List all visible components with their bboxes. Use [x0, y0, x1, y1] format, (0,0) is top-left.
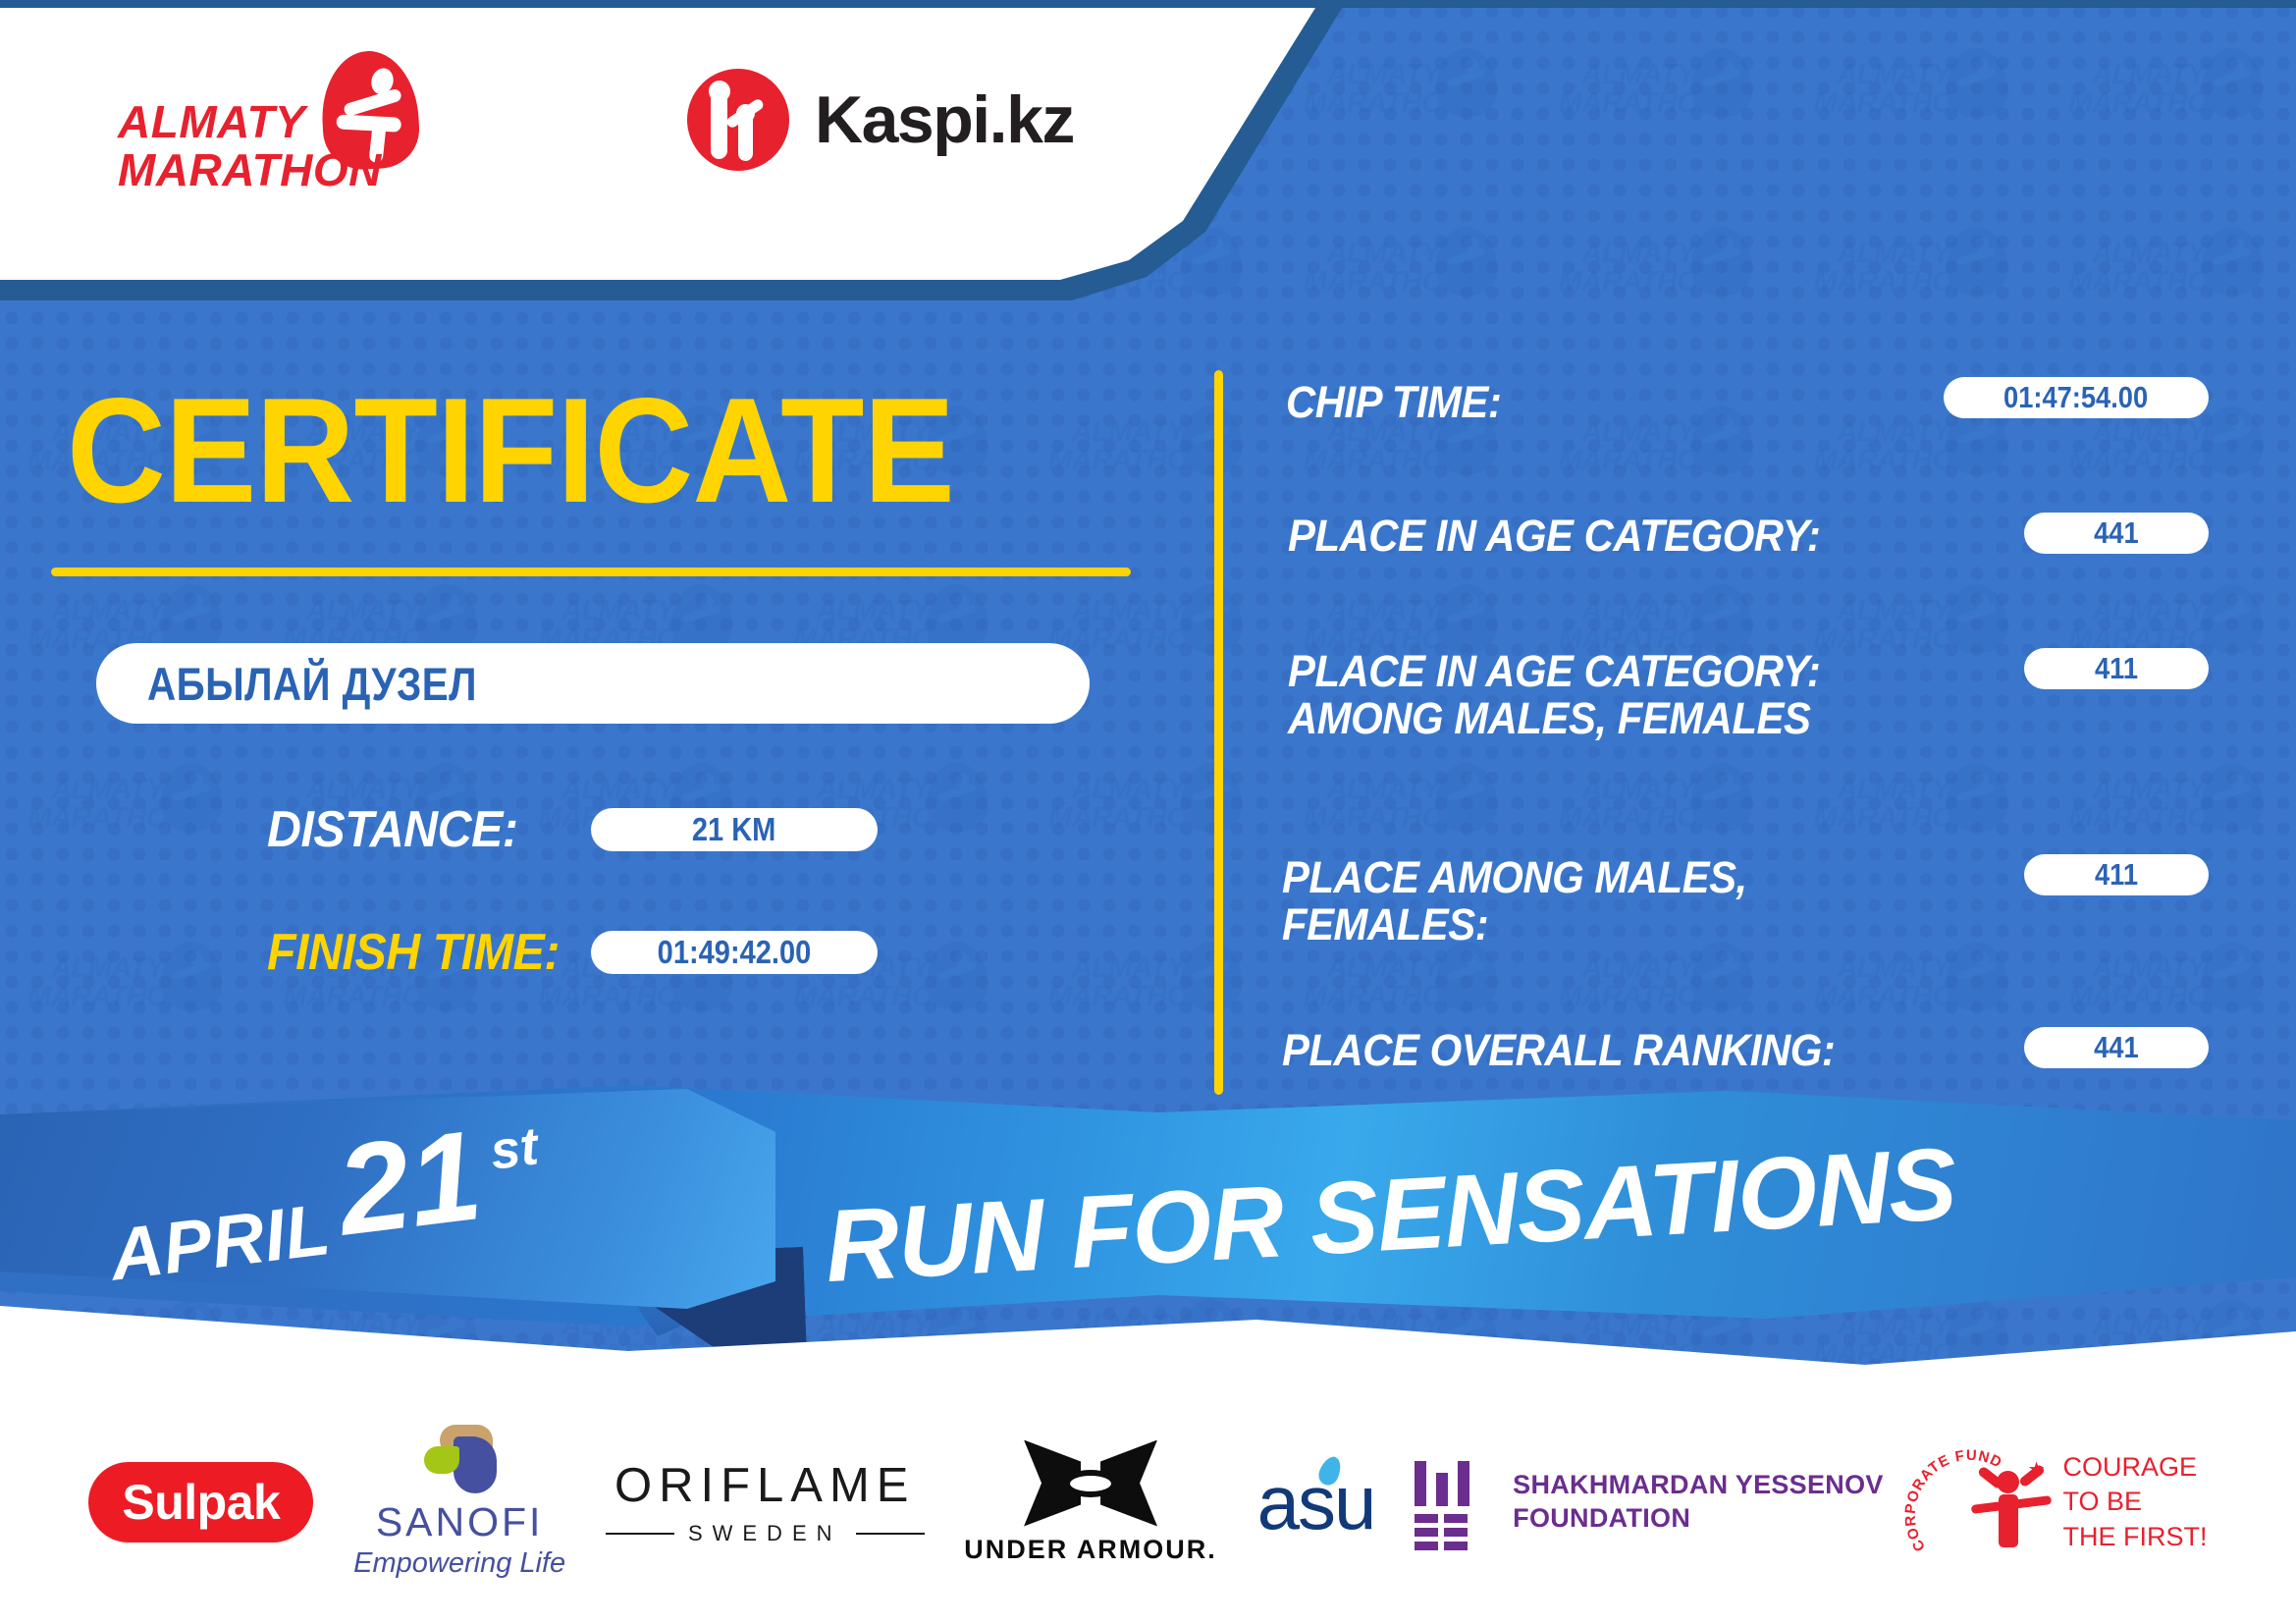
almaty-marathon-logo-text: ALMATY MARATHON [118, 98, 382, 194]
stat-row: PLACE IN AGE CATEGORY: 441 [1266, 507, 2209, 644]
asu-logo-text: asu [1257, 1459, 1375, 1545]
title-underline [51, 568, 1131, 576]
yessenov-bar [1415, 1514, 1438, 1523]
certificate-canvas: ALMATYMARATHONALMATYMARATHONALMATYMARATH… [0, 0, 2296, 1624]
event-day: 21 [332, 1117, 487, 1249]
sponsor-bar: Sulpak SANOFI Empowering Life ORIFLAME S… [0, 1409, 2296, 1596]
stat-row: PLACE IN AGE CATEGORY: AMONG MALES, FEMA… [1266, 644, 2209, 850]
stat-label: PLACE IN AGE CATEGORY: [1288, 513, 1820, 560]
courage-tagline: COURAGETO BETHE FIRST! [2063, 1450, 2208, 1553]
stat-value-pill: 441 [2024, 1027, 2209, 1068]
sponsor-asu: asu [1257, 1458, 1375, 1547]
finish-time-value-pill: 01:49:42.00 [591, 931, 878, 974]
finish-time-value: 01:49:42.00 [658, 934, 812, 971]
kaspi-family-icon [687, 69, 789, 171]
stat-label: PLACE IN AGE CATEGORY: AMONG MALES, FEMA… [1288, 648, 1820, 742]
yessenov-bar [1415, 1528, 1438, 1537]
stat-value-pill: 411 [2024, 854, 2209, 895]
vertical-divider [1214, 370, 1223, 1095]
yessenov-bar [1415, 1461, 1426, 1506]
sponsor-oriflame: ORIFLAME SWEDEN [606, 1458, 925, 1546]
sponsor-corporate-fund: CORPORATE FUND ★ COURAGETO BETHE FIRST! [1924, 1450, 2208, 1553]
yessenov-logo-text: SHAKHMARDAN YESSENOV FOUNDATION [1513, 1469, 1884, 1536]
yessenov-bar [1444, 1514, 1468, 1523]
kaspi-logo: Kaspi.kz [687, 69, 1074, 171]
oriflame-tagline: SWEDEN [688, 1521, 842, 1546]
courage-person-icon: ★ [1975, 1457, 2048, 1547]
yessenov-tagline: FOUNDATION [1513, 1503, 1690, 1533]
sanofi-tagline: Empowering Life [353, 1547, 565, 1580]
sulpak-logo-text: Sulpak [88, 1462, 313, 1543]
yessenov-bar [1458, 1461, 1469, 1506]
runner-name-value: АБЫЛАЙ ДУЗЕЛ [147, 657, 477, 711]
yessenov-bar [1436, 1473, 1448, 1506]
yessenov-bar [1415, 1542, 1438, 1550]
oriflame-rule-left [606, 1533, 674, 1535]
distance-row: DISTANCE: 21 KM [267, 800, 878, 859]
page-title: CERTIFICATE [67, 365, 954, 537]
oriflame-logo-text: ORIFLAME [614, 1458, 915, 1513]
sponsor-sanofi: SANOFI Empowering Life [353, 1425, 565, 1580]
yessenov-bar [1444, 1542, 1468, 1550]
event-day-suffix: st [487, 1115, 541, 1181]
sanofi-logo-text: SANOFI [376, 1499, 544, 1545]
stat-value-pill: 441 [2024, 513, 2209, 554]
logo-line-2: MARATHON [118, 144, 382, 195]
sponsor-under-armour: UNDER ARMOUR. [964, 1440, 1217, 1565]
sanofi-mark-icon [418, 1425, 501, 1493]
runner-name-field: АБЫЛАЙ ДУЗЕЛ [96, 643, 1090, 724]
oriflame-rule-right [856, 1533, 925, 1535]
finish-time-row: FINISH TIME: 01:49:42.00 [267, 923, 878, 982]
logo-line-1: ALMATY [118, 96, 305, 147]
distance-label: DISTANCE: [267, 800, 546, 859]
stat-label: PLACE OVERALL RANKING: [1282, 1027, 1835, 1074]
stat-row: CHIP TIME: 01:47:54.00 [1266, 373, 2209, 507]
under-armour-logo-text: UNDER ARMOUR. [964, 1535, 1217, 1565]
yessenov-name: SHAKHMARDAN YESSENOV [1513, 1470, 1884, 1499]
finish-time-label: FINISH TIME: [267, 923, 546, 982]
yessenov-mark-icon [1415, 1461, 1489, 1543]
sponsor-sulpak: Sulpak [88, 1462, 313, 1543]
sponsor-yessenov-foundation: SHAKHMARDAN YESSENOV FOUNDATION [1415, 1461, 1884, 1543]
stat-row: PLACE AMONG MALES, FEMALES: 411 [1266, 850, 2209, 1023]
stat-value: 411 [2095, 857, 2138, 893]
stats-panel: CHIP TIME: 01:47:54.00 PLACE IN AGE CATE… [1266, 373, 2209, 1131]
stat-label: CHIP TIME: [1286, 379, 1501, 426]
top-rule [0, 0, 2296, 8]
almaty-marathon-logo: ALMATY MARATHON [118, 47, 432, 194]
stat-value-pill: 411 [2024, 648, 2209, 689]
stat-value-pill: 01:47:54.00 [1944, 377, 2209, 418]
yessenov-bar [1444, 1528, 1468, 1537]
asu-logo-text-wrap: asu [1257, 1458, 1375, 1547]
stat-value: 441 [2094, 1030, 2139, 1065]
distance-value-pill: 21 KM [591, 808, 878, 851]
stat-label: PLACE AMONG MALES, FEMALES: [1282, 854, 1747, 948]
under-armour-icon [1024, 1440, 1157, 1527]
oriflame-sub: SWEDEN [606, 1521, 925, 1546]
stat-value: 441 [2094, 515, 2139, 551]
distance-value: 21 KM [692, 811, 776, 848]
stat-value: 01:47:54.00 [2003, 380, 2148, 415]
stat-value: 411 [2095, 651, 2138, 686]
kaspi-logo-text: Kaspi.kz [815, 81, 1074, 158]
